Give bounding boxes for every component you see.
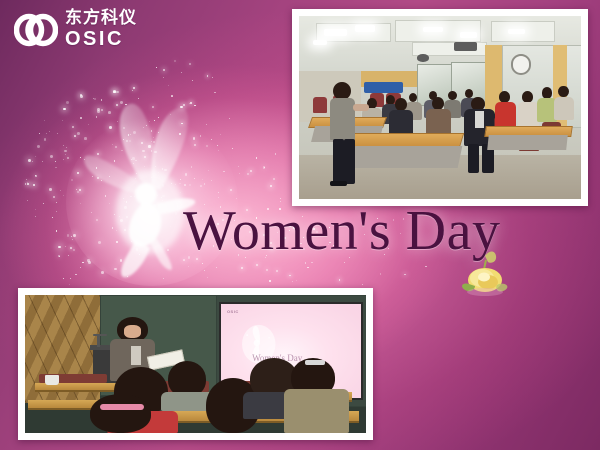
- photo-lecture-hall[interactable]: OSIC Women's Day: [18, 288, 373, 440]
- logo-chinese-text: 东方科仪: [65, 10, 137, 27]
- logo-mark-icon: [14, 13, 58, 47]
- page-title: Women's Day: [183, 203, 500, 259]
- logo-english-text: OSIC: [65, 29, 137, 49]
- photo-lecture-hall-image: OSIC Women's Day: [25, 295, 366, 433]
- osic-logo: 东方科仪 OSIC: [14, 10, 137, 49]
- projected-logo-text: OSIC: [227, 309, 239, 314]
- womens-day-slide: Women's Day 东方科仪 OSIC: [0, 0, 600, 450]
- rose-icon: [455, 248, 515, 304]
- photo-seminar-room-image: [299, 16, 581, 199]
- photo-seminar-room[interactable]: [292, 9, 588, 206]
- fairy-icon: [52, 84, 252, 294]
